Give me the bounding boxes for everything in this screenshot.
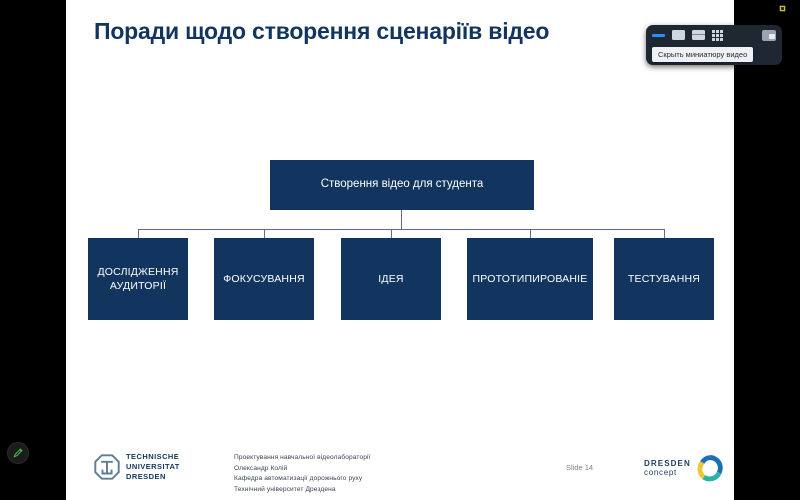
university-logo-text: TECHNISCHE UNIVERSITAT DRESDEN	[126, 452, 180, 482]
diagram-node-focusing: ФОКУСУВАННЯ	[214, 238, 314, 320]
slide-number: Slide 14	[566, 463, 593, 472]
annotate-button[interactable]	[7, 442, 29, 464]
minimize-bar-icon	[652, 34, 665, 37]
connector-drop-1	[138, 229, 139, 238]
diagram-node-label: ДОСЛІДЖЕННЯ АУДИТОРІЇ	[88, 265, 188, 293]
hide-thumbnail-button[interactable]	[652, 30, 666, 41]
diagram-node-root-label: Створення відео для студента	[315, 177, 490, 193]
recording-indicator-icon	[779, 5, 786, 12]
university-logo: TECHNISCHE UNIVERSITAT DRESDEN	[94, 452, 180, 482]
screen-root: Поради щодо створення сценаріїв відео Ст…	[0, 0, 800, 500]
diagram-node-audience-research: ДОСЛІДЖЕННЯ АУДИТОРІЇ	[88, 238, 188, 320]
connector-drop-3	[391, 229, 392, 238]
credit-line: Олександр Колій	[234, 464, 370, 475]
connector-drop-2	[264, 229, 265, 238]
credit-line: Кафедра автоматизації дорожнього руху	[234, 474, 370, 485]
dc-line-2: concept	[644, 468, 691, 477]
picture-in-picture-button[interactable]	[762, 30, 776, 41]
grid-view-icon	[712, 30, 723, 41]
diagram-node-label: ФОКУСУВАННЯ	[217, 272, 311, 286]
filmstrip-view-icon	[692, 30, 705, 40]
speaker-view-button[interactable]	[672, 30, 686, 41]
presentation-slide: Поради щодо створення сценаріїв відео Ст…	[66, 0, 734, 500]
footer-credits: Проектування навчальної відеолабораторії…	[234, 453, 370, 496]
diagram-node-label: ПРОТОТИПИРОВАНІЕ	[467, 272, 594, 286]
dc-line-1: DRESDEN	[644, 459, 691, 468]
connector-bus	[138, 229, 664, 230]
diagram-node-label: ІДЕЯ	[372, 272, 409, 286]
diagram-node-testing: ТЕСТУВАННЯ	[614, 238, 714, 320]
video-layout-toolbar: Скрыть миниатюру видео	[646, 25, 782, 65]
tud-line-3: DRESDEN	[126, 472, 180, 482]
pip-icon	[762, 30, 776, 41]
dresden-concept-text: DRESDEN concept	[644, 459, 691, 478]
tud-line-2: UNIVERSITAT	[126, 462, 180, 472]
connector-drop-5	[664, 229, 665, 238]
tooltip: Скрыть миниатюру видео	[652, 47, 753, 62]
diagram-node-root: Створення відео для студента	[270, 160, 534, 210]
diagram-node-label: ТЕСТУВАННЯ	[622, 272, 706, 286]
speaker-view-icon	[672, 30, 685, 40]
dresden-concept-logo: DRESDEN concept	[644, 454, 724, 482]
tud-line-1: TECHNISCHE	[126, 452, 180, 462]
strip-view-button[interactable]	[692, 30, 706, 41]
diagram-node-idea: ІДЕЯ	[341, 238, 441, 320]
connector-drop-4	[530, 229, 531, 238]
dresden-concept-ring-icon	[696, 454, 724, 482]
org-diagram: Створення відео для студента ДОСЛІДЖЕННЯ…	[66, 0, 734, 500]
pencil-icon	[12, 447, 24, 459]
credit-line: Проектування навчальної відеолабораторії	[234, 453, 370, 464]
connector-stem	[401, 210, 402, 230]
diagram-node-prototyping: ПРОТОТИПИРОВАНІЕ	[467, 238, 593, 320]
tud-octagon-icon	[94, 454, 120, 480]
video-toolbar-row	[646, 25, 782, 45]
gallery-view-button[interactable]	[712, 30, 726, 41]
credit-line: Технічний університет Дрездена	[234, 485, 370, 496]
